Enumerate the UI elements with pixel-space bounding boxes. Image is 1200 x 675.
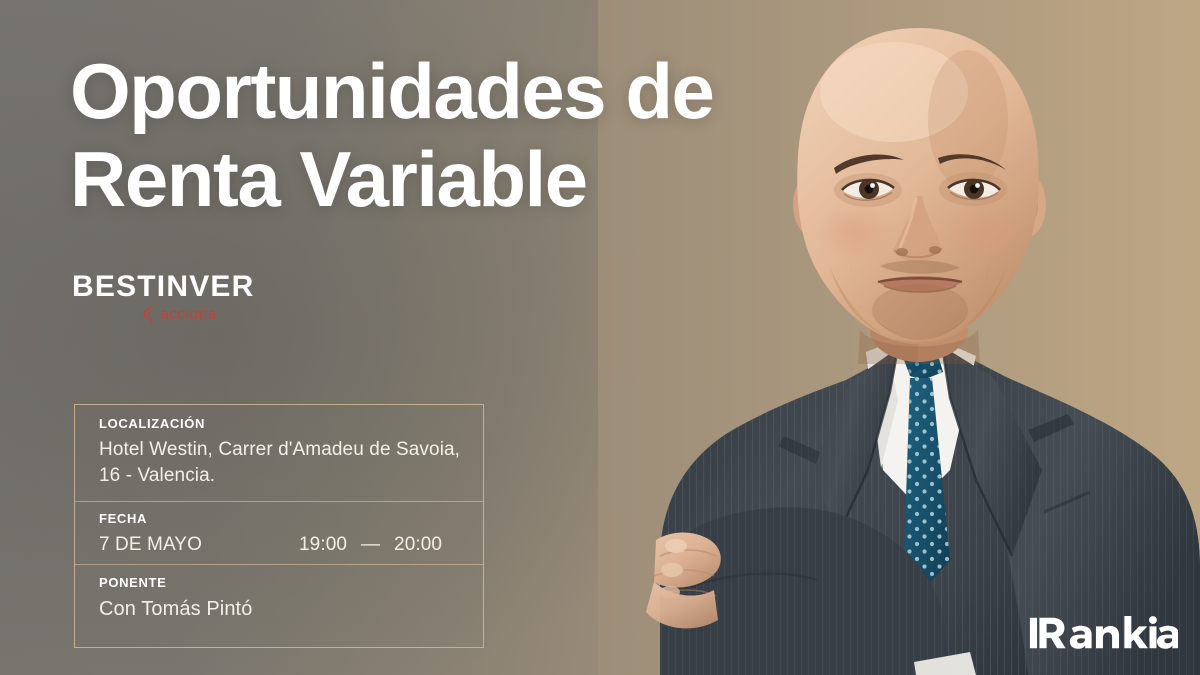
bestinver-wordmark: BESTINVER	[72, 272, 312, 302]
time-start: 19:00	[299, 532, 347, 557]
time-separator: —	[361, 534, 380, 556]
bestinver-logo: BESTINVER acciona	[72, 272, 312, 325]
detail-row-localizacion: LOCALIZACIÓN Hotel Westin, Carrer d'Amad…	[75, 405, 483, 501]
localizacion-value: Hotel Westin, Carrer d'Amadeu de Savoia,…	[99, 437, 483, 488]
acciona-leaf-icon	[142, 305, 158, 324]
acciona-lockup: acciona	[72, 305, 312, 325]
detail-row-fecha: FECHA 7 DE MAYO 19:00 — 20:00	[75, 501, 483, 564]
detail-row-ponente: PONENTE Con Tomás Pintó	[75, 564, 483, 647]
rankia-logo	[1028, 613, 1178, 653]
acciona-wordmark: acciona	[160, 305, 217, 324]
localizacion-label: LOCALIZACIÓN	[99, 417, 483, 431]
fecha-date: 7 DE MAYO	[99, 532, 299, 557]
headline-line-1: Oportunidades de	[70, 47, 713, 135]
fecha-time-range: 19:00 — 20:00	[299, 532, 442, 557]
headline-line-2: Renta Variable	[70, 135, 770, 223]
time-end: 20:00	[394, 532, 442, 557]
ponente-value: Con Tomás Pintó	[99, 596, 483, 623]
event-poster: Oportunidades de Renta Variable BESTINVE…	[0, 0, 1200, 675]
event-details-box: LOCALIZACIÓN Hotel Westin, Carrer d'Amad…	[74, 404, 484, 648]
page-title: Oportunidades de Renta Variable	[70, 47, 770, 223]
fecha-label: FECHA	[99, 512, 483, 526]
fecha-line: 7 DE MAYO 19:00 — 20:00	[99, 532, 483, 557]
ponente-label: PONENTE	[99, 576, 483, 590]
